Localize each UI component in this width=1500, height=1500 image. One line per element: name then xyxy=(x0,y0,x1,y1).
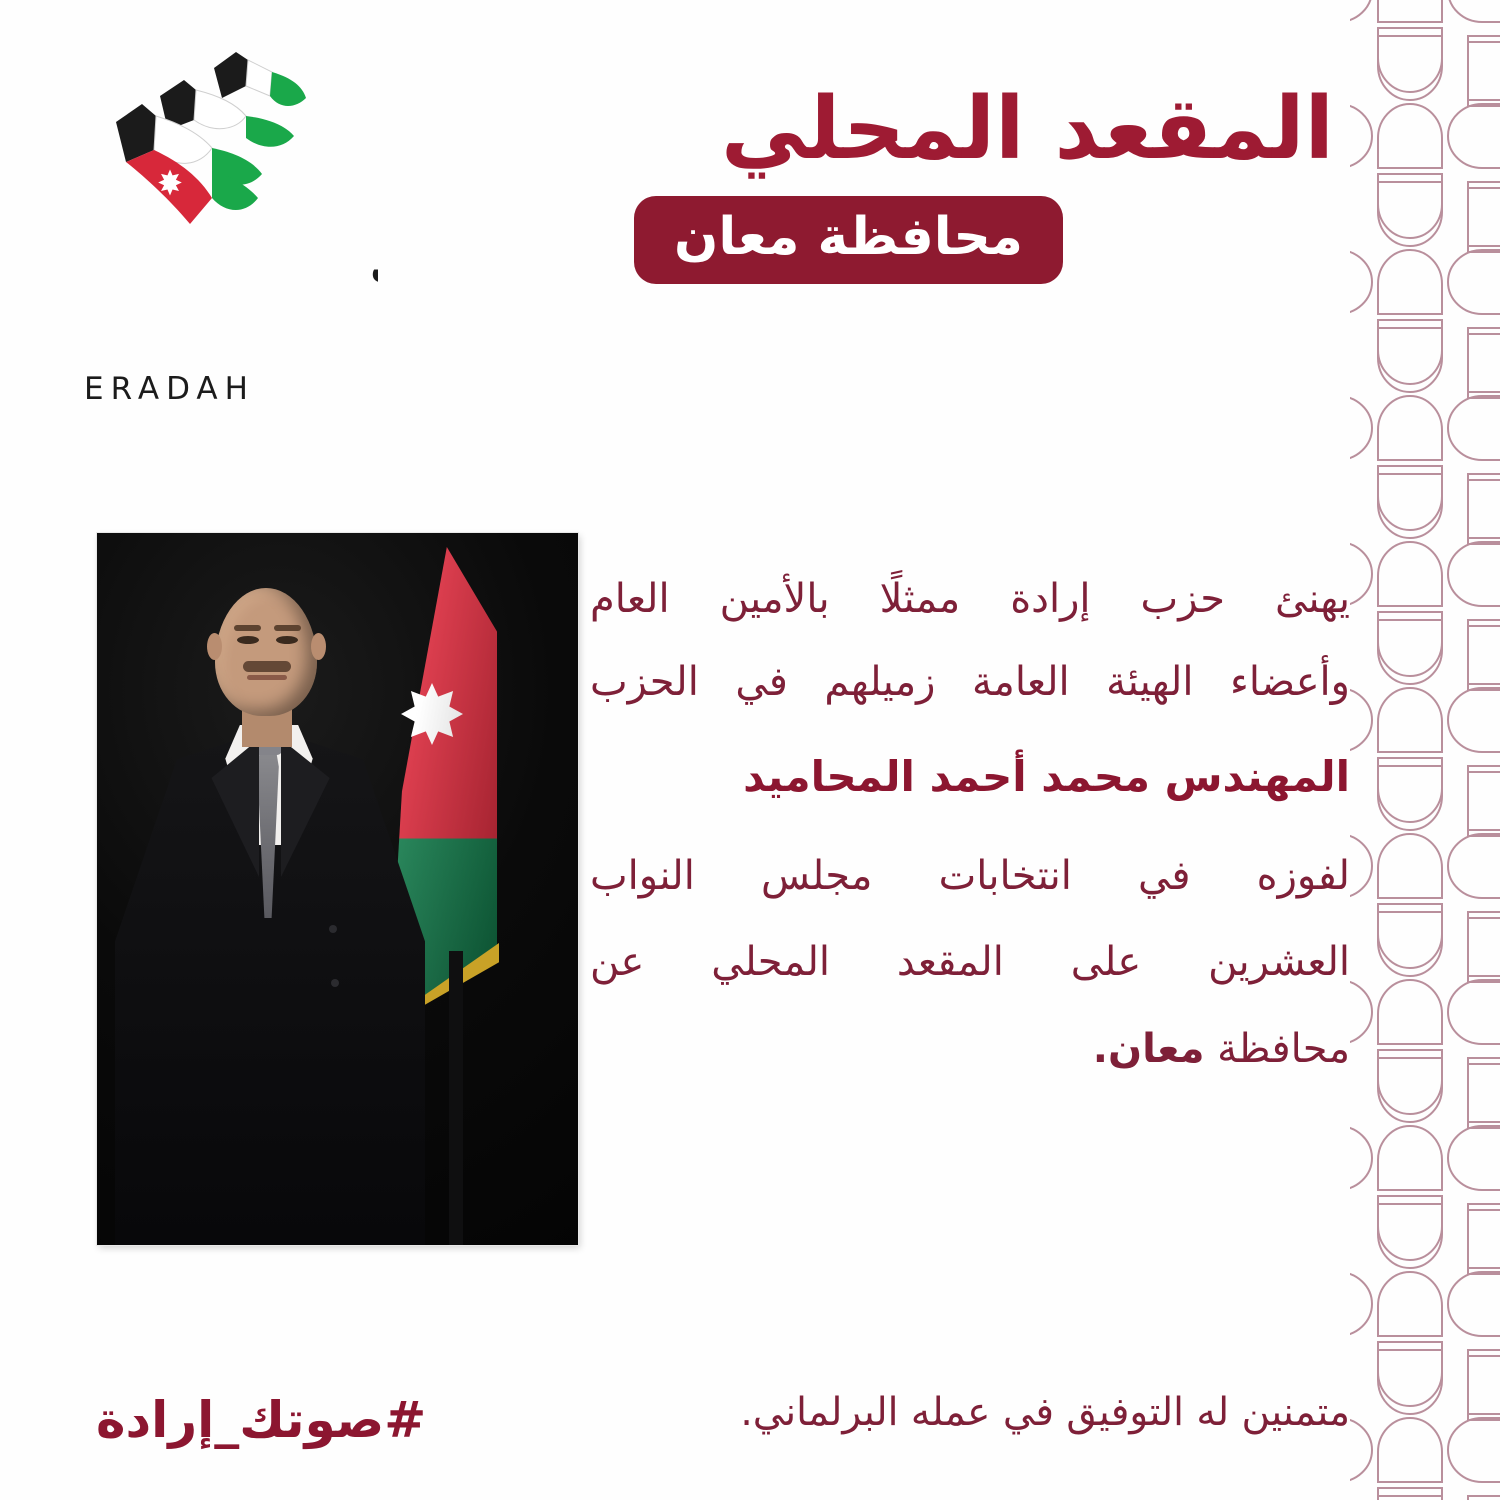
header: المقعد المحلي محافظة معان xyxy=(634,86,1334,284)
honoree-name: المهندس محمد أحمد المحاميد xyxy=(590,745,1350,808)
logo-flags-icon xyxy=(96,46,326,251)
decorative-border-pattern xyxy=(1350,0,1500,1500)
eyebrow-right xyxy=(274,625,301,631)
ear-right xyxy=(311,633,326,660)
eye-right xyxy=(276,636,298,644)
campaign-hashtag: #صوتك_إرادة xyxy=(96,1388,516,1453)
jacket-button xyxy=(331,979,339,987)
paragraph2-line3-emphasis: معان. xyxy=(1093,1026,1205,1072)
eyebrow-left xyxy=(234,625,261,631)
paragraph2-line3-prefix: محافظة xyxy=(1204,1026,1350,1072)
congratulation-text: يهنئ حزب إرادة ممثلًا بالأمين العام وأعض… xyxy=(590,565,1350,1102)
logo-eradah-arabic: إرادة xyxy=(374,278,378,386)
paragraph2-line2: العشرين على المقعد المحلي عن xyxy=(590,928,1350,997)
page-title: المقعد المحلي xyxy=(634,86,1334,174)
logo-eradah-latin: ERADAH xyxy=(84,371,255,406)
governorate-badge: محافظة معان xyxy=(634,196,1063,285)
eradah-logo: حزب إرادة ERADAH xyxy=(78,46,378,406)
mouth xyxy=(247,675,287,680)
logo-wordmark: حزب إرادة ERADAH xyxy=(78,231,378,406)
poster-card: حزب إرادة ERADAH المقعد المحلي محافظة مع… xyxy=(0,0,1500,1500)
candidate-photo xyxy=(97,533,578,1245)
badge-row: محافظة معان xyxy=(634,196,1334,285)
pattern-tiles xyxy=(1350,0,1500,1500)
paragraph2-line3: محافظة معان. xyxy=(590,1015,1350,1084)
logo-wordmark-svg: حزب إرادة ERADAH xyxy=(78,231,378,406)
ear-left xyxy=(207,633,222,660)
moustache xyxy=(243,661,291,672)
pattern-svg xyxy=(1350,0,1500,1500)
jacket-button xyxy=(329,925,337,933)
paragraph2: لفوزه في انتخابات مجلس النواب العشرين عل… xyxy=(590,842,1350,1084)
closing-wish: متمنين له التوفيق في عمله البرلماني. xyxy=(590,1386,1350,1441)
paragraph1-line1: يهنئ حزب إرادة ممثلًا بالأمين العام xyxy=(590,565,1350,634)
paragraph2-line1: لفوزه في انتخابات مجلس النواب xyxy=(590,842,1350,911)
flag-pole xyxy=(449,951,463,1245)
paragraph1-line2: وأعضاء الهيئة العامة زميلهم في الحزب xyxy=(590,648,1350,717)
eye-left xyxy=(237,636,259,644)
